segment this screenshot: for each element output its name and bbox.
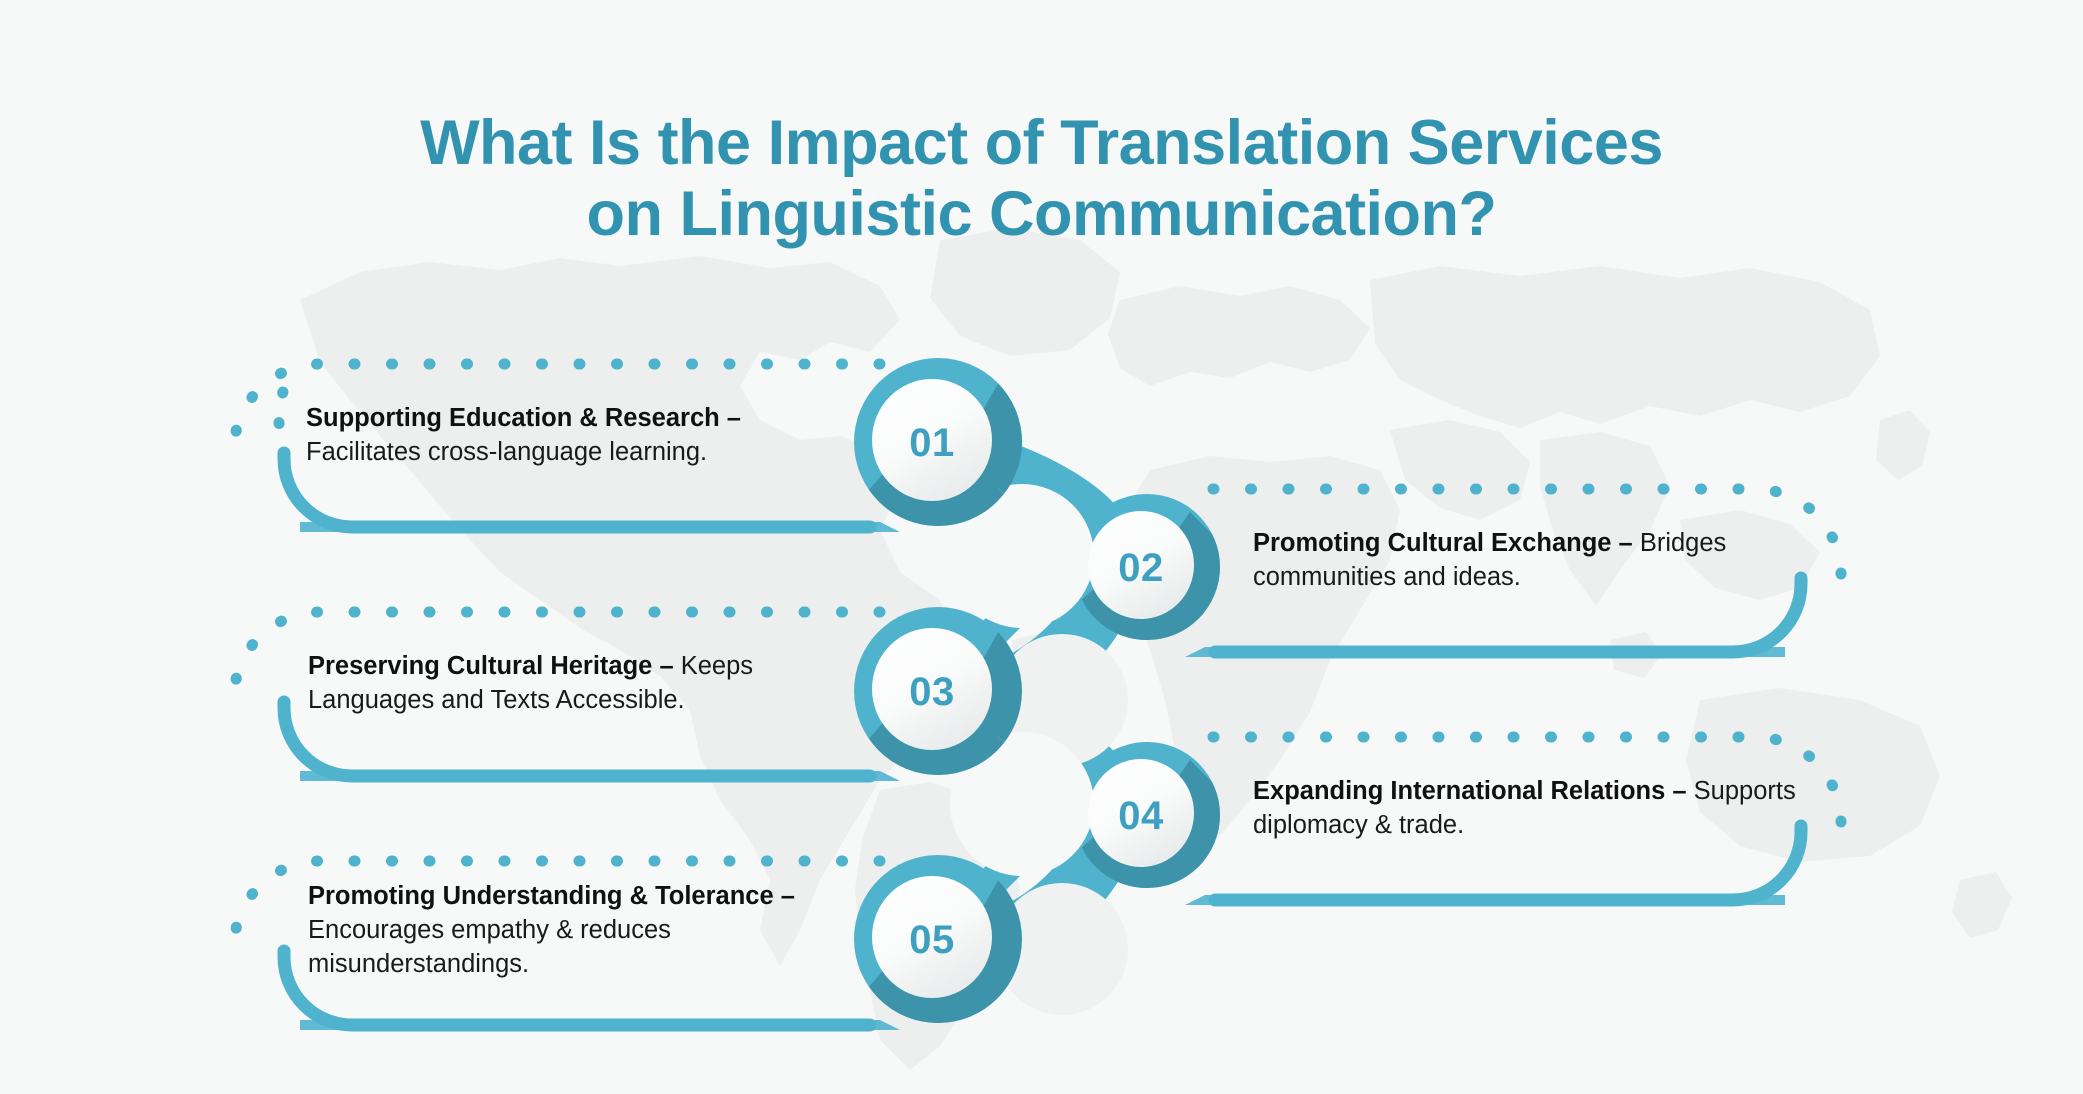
card-05-bottom-bar (300, 1020, 900, 1030)
badge-05-number: 05 (909, 918, 955, 962)
badge-03-number: 03 (909, 670, 955, 714)
card-02-bottom-bar (1185, 647, 1785, 657)
card-03-heading: Preserving Cultural Heritage – (308, 652, 674, 680)
card-04-heading: Expanding International Relations – (1253, 777, 1687, 805)
card-text-05: Promoting Understanding & Tolerance – En… (308, 880, 838, 982)
card-01-body: Facilitates cross-language learning. (306, 438, 707, 466)
infographic-canvas: What Is the Impact of Translation Servic… (0, 0, 2083, 1094)
title-line-2: on Linguistic Communication? (0, 179, 2083, 250)
card-01-dot-corner (279, 392, 283, 443)
card-05-body: Encourages empathy & reduces misundersta… (308, 916, 671, 978)
badge-02-number: 02 (1118, 546, 1164, 590)
page-title: What Is the Impact of Translation Servic… (0, 108, 2083, 249)
card-03-bottom-bar (300, 771, 900, 781)
card-04-bottom-bar (1185, 895, 1785, 905)
card-text-04: Expanding International Relations – Supp… (1253, 775, 1798, 843)
card-01-bottom-bar (300, 522, 900, 532)
card-02-heading: Promoting Cultural Exchange – (1253, 529, 1633, 557)
title-line-1: What Is the Impact of Translation Servic… (0, 108, 2083, 179)
badge-01-number: 01 (909, 421, 955, 465)
card-text-01: Supporting Education & Research – Facili… (306, 402, 861, 470)
card-05-heading: Promoting Understanding & Tolerance – (308, 882, 795, 910)
badge-04-number: 04 (1118, 794, 1164, 838)
card-text-02: Promoting Cultural Exchange – Bridges co… (1253, 527, 1783, 595)
card-text-03: Preserving Cultural Heritage – Keeps Lan… (308, 650, 863, 718)
card-01-heading: Supporting Education & Research – (306, 404, 741, 432)
